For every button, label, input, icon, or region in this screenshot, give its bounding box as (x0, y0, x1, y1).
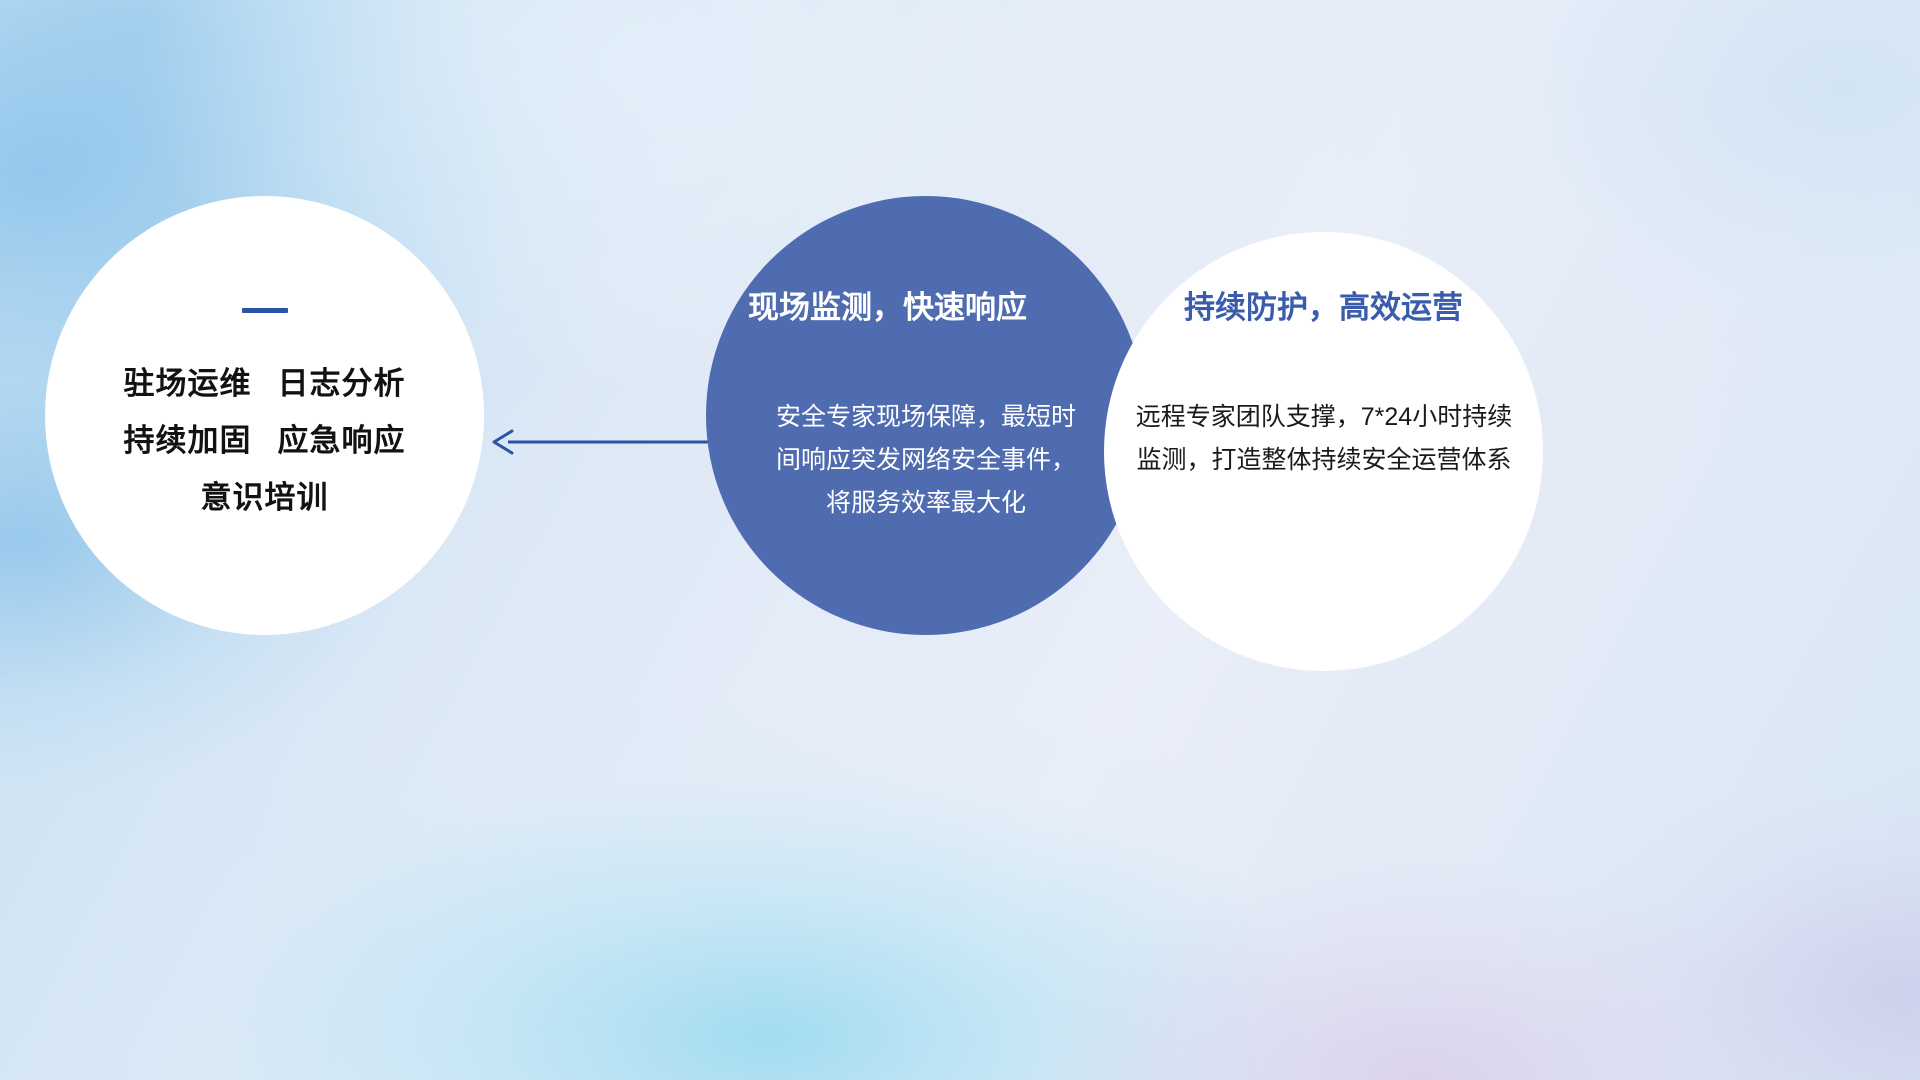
capability-item-log-analysis: 日志分析 (278, 366, 406, 401)
driver-operations-circle[interactable]: 驻场运维日志分析 持续加固应急响应 意识培训 (45, 196, 484, 635)
capability-item-awareness-training: 意识培训 (201, 480, 329, 515)
capability-row-1: 驻场运维日志分析 (124, 355, 406, 412)
capability-row-2: 持续加固应急响应 (124, 412, 406, 469)
capability-item-onsite-ops: 驻场运维 (124, 366, 252, 401)
capability-item-incident-response: 应急响应 (278, 423, 406, 458)
capability-list: 驻场运维日志分析 持续加固应急响应 意识培训 (124, 355, 406, 526)
capability-item-hardening: 持续加固 (124, 423, 252, 458)
continuous-protection-circle[interactable] (1104, 232, 1543, 671)
onsite-monitoring-circle[interactable] (706, 196, 1145, 635)
capability-row-3: 意识培训 (124, 469, 406, 526)
slide-canvas: 驻场运维日志分析 持续加固应急响应 意识培训 现场监测，快速响应 安全专家现场保… (0, 0, 1920, 1080)
divider-rule (242, 308, 288, 313)
left-pointing-arrow (488, 420, 718, 464)
